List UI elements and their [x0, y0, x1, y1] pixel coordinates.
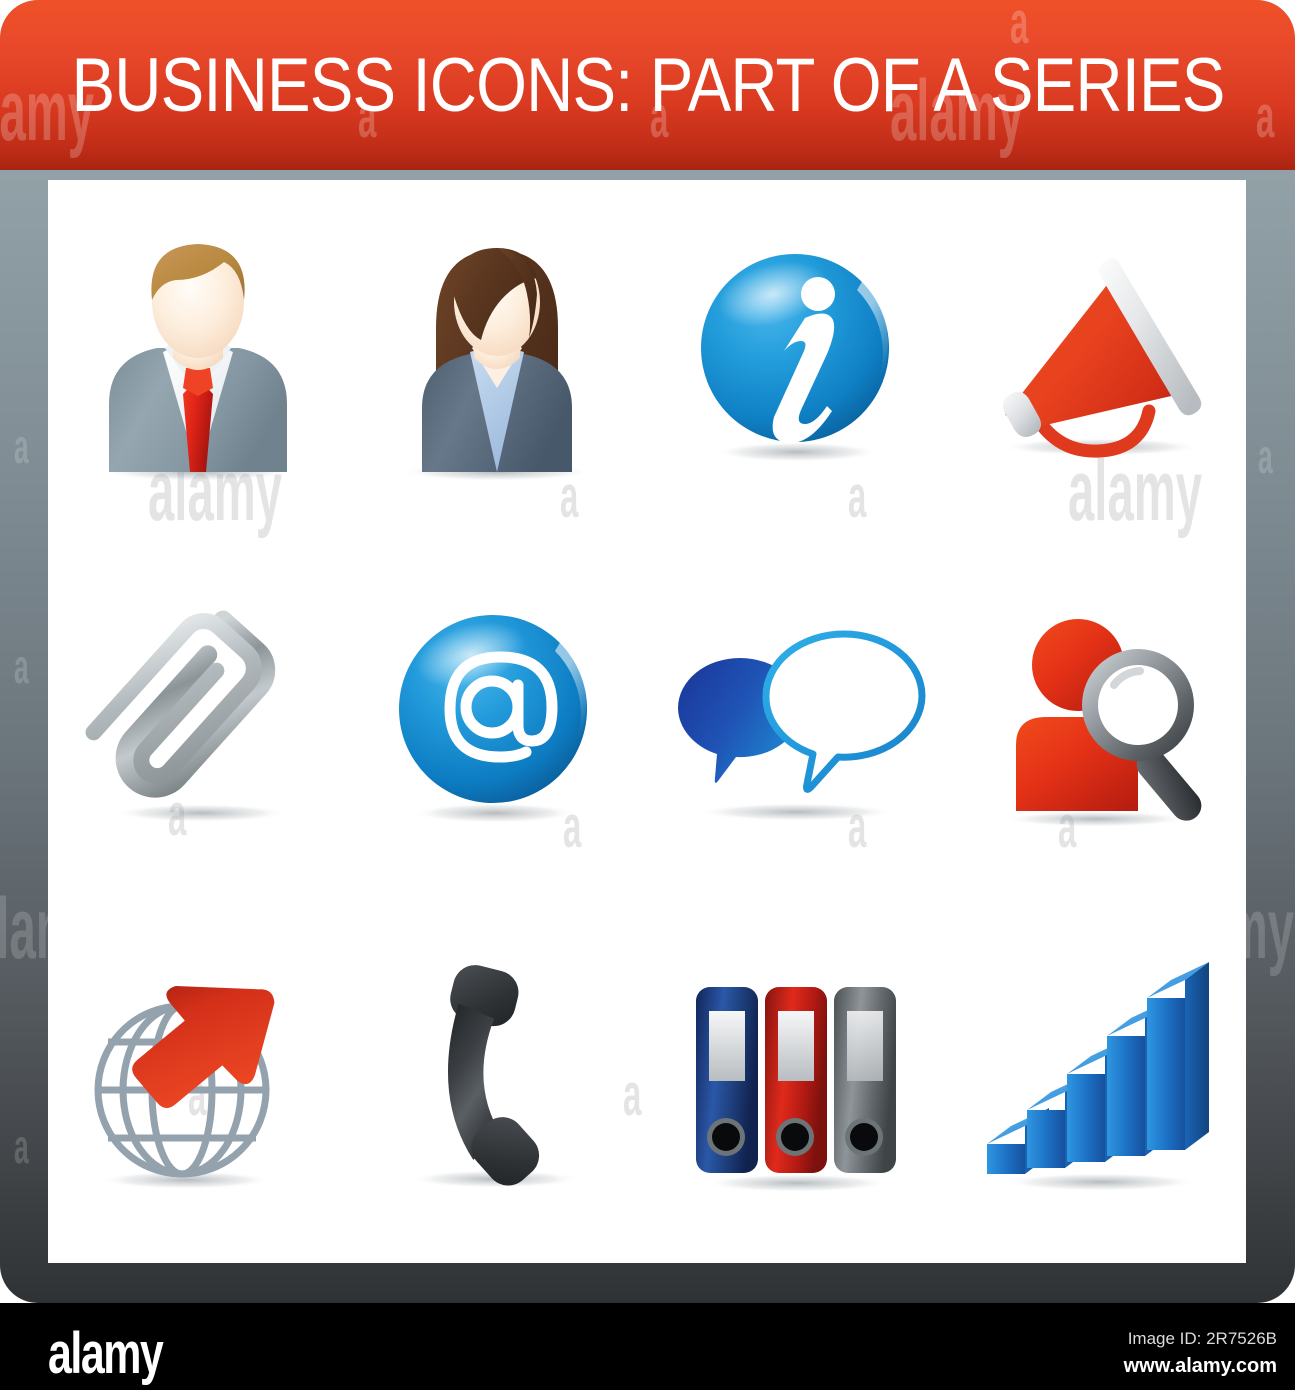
- paperclip-icon: [83, 607, 313, 837]
- businesswoman-icon: [392, 236, 602, 486]
- telephone-icon: [387, 963, 607, 1203]
- globe-arrow-icon: [78, 968, 318, 1198]
- watermark-frame-a1: a: [14, 420, 29, 475]
- alamy-url[interactable]: www.alamy.com: [1017, 1355, 1277, 1378]
- icon-cell-paperclip[interactable]: [48, 541, 348, 902]
- alamy-logo: alamy: [48, 1325, 162, 1383]
- icon-cell-businessman[interactable]: [48, 180, 348, 541]
- icon-panel: alamy a a alamy a a a a a a a a: [48, 180, 1246, 1263]
- icon-cell-user-search[interactable]: [947, 541, 1247, 902]
- icon-cell-email[interactable]: [348, 541, 648, 902]
- icon-cell-telephone[interactable]: [348, 902, 648, 1263]
- chat-bubbles-icon: [662, 612, 932, 832]
- icon-cell-megaphone[interactable]: [947, 180, 1247, 541]
- bar-chart-icon: [971, 958, 1221, 1208]
- screenshot-root: alamy a a a alamy a alamy a a alamy a a …: [0, 0, 1295, 1390]
- icon-cell-chat[interactable]: [647, 541, 947, 902]
- icon-cell-businesswoman[interactable]: [348, 180, 648, 541]
- businessman-icon: [93, 236, 303, 486]
- watermark-frame-a3: a: [14, 1120, 29, 1175]
- icon-grid: [48, 180, 1246, 1263]
- image-id-label: Image ID: 2R7526B: [1017, 1329, 1277, 1349]
- outer-frame: alamy a a a alamy a alamy a a alamy a a …: [0, 0, 1295, 1303]
- icon-cell-binders[interactable]: [647, 902, 947, 1263]
- bar-5: [1147, 962, 1209, 1150]
- megaphone-icon: [971, 251, 1221, 471]
- info-icon: [687, 246, 907, 476]
- watermark-banner-a3: a: [1256, 82, 1274, 151]
- icon-cell-bar-chart[interactable]: [947, 902, 1247, 1263]
- binders-icon: [682, 963, 912, 1203]
- user-search-icon: [976, 607, 1216, 837]
- title-banner: alamy a a alamy a a BUSINESS ICONS: PART…: [0, 0, 1295, 170]
- watermark-frame-a2: a: [14, 640, 29, 695]
- email-icon: [387, 607, 607, 837]
- icon-cell-info[interactable]: [647, 180, 947, 541]
- watermark-frame-a4: a: [1258, 430, 1273, 485]
- icon-cell-globe[interactable]: [48, 902, 348, 1263]
- page-title: BUSINESS ICONS: PART OF A SERIES: [71, 48, 1224, 124]
